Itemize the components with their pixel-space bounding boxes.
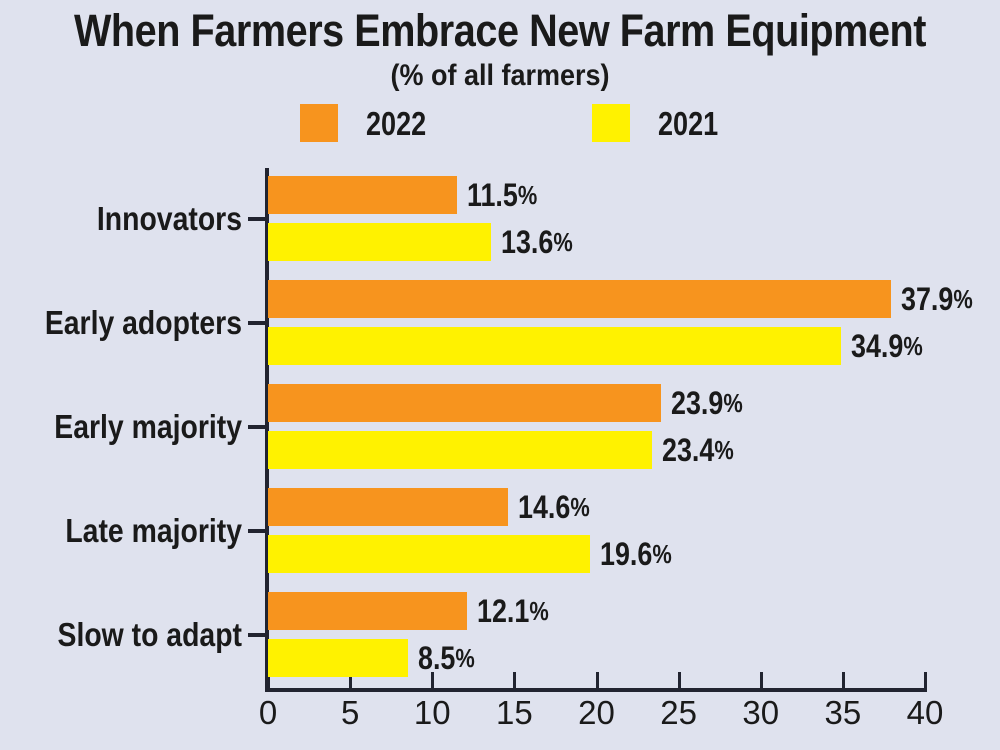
chart-canvas: When Farmers Embrace New Farm Equipment … bbox=[0, 0, 1000, 750]
bar-2021-1[interactable] bbox=[268, 327, 841, 365]
x-tick-label-35: 35 bbox=[803, 694, 883, 732]
bar-value-label-2021-2: 23.4% bbox=[662, 431, 734, 469]
y-tick-1 bbox=[248, 321, 269, 325]
x-tick-40 bbox=[924, 672, 927, 690]
category-label-2: Early majority bbox=[0, 410, 242, 443]
x-tick-20 bbox=[596, 672, 599, 690]
x-tick-label-20: 20 bbox=[557, 694, 637, 732]
bar-2021-4[interactable] bbox=[268, 639, 408, 677]
bar-value-label-2022-4: 12.1% bbox=[477, 592, 549, 630]
x-tick-label-10: 10 bbox=[392, 694, 472, 732]
bar-2021-3[interactable] bbox=[268, 535, 590, 573]
x-tick-35 bbox=[842, 672, 845, 690]
x-tick-label-15: 15 bbox=[474, 694, 554, 732]
y-tick-0 bbox=[248, 217, 269, 221]
x-tick-label-40: 40 bbox=[885, 694, 965, 732]
plot-area: 0510152025303540 InnovatorsEarly adopter… bbox=[0, 0, 1000, 750]
bar-value-label-2022-1: 37.9% bbox=[901, 280, 973, 318]
category-label-0: Innovators bbox=[0, 202, 242, 235]
category-label-3: Late majority bbox=[0, 514, 242, 547]
x-tick-30 bbox=[760, 672, 763, 690]
bar-2022-0[interactable] bbox=[268, 176, 457, 214]
bar-2022-2[interactable] bbox=[268, 384, 661, 422]
bar-value-label-2022-2: 23.9% bbox=[671, 384, 743, 422]
bar-2022-4[interactable] bbox=[268, 592, 467, 630]
bar-value-label-2022-3: 14.6% bbox=[518, 488, 590, 526]
bar-value-label-2021-3: 19.6% bbox=[600, 535, 672, 573]
bar-2022-3[interactable] bbox=[268, 488, 508, 526]
x-tick-label-25: 25 bbox=[639, 694, 719, 732]
bar-2021-0[interactable] bbox=[268, 223, 491, 261]
bar-value-label-2021-1: 34.9% bbox=[851, 327, 923, 365]
category-label-4: Slow to adapt bbox=[0, 618, 242, 651]
x-tick-label-0: 0 bbox=[228, 694, 308, 732]
bar-value-label-2021-4: 8.5% bbox=[418, 639, 475, 677]
category-label-1: Early adopters bbox=[0, 306, 242, 339]
bar-value-label-2021-0: 13.6% bbox=[501, 223, 573, 261]
x-tick-label-30: 30 bbox=[721, 694, 801, 732]
x-tick-15 bbox=[513, 672, 516, 690]
x-tick-25 bbox=[678, 672, 681, 690]
x-tick-label-5: 5 bbox=[310, 694, 390, 732]
bar-2022-1[interactable] bbox=[268, 280, 891, 318]
bar-2021-2[interactable] bbox=[268, 431, 652, 469]
y-tick-2 bbox=[248, 425, 269, 429]
y-tick-3 bbox=[248, 529, 269, 533]
bar-value-label-2022-0: 11.5% bbox=[467, 176, 537, 214]
y-tick-4 bbox=[248, 633, 269, 637]
